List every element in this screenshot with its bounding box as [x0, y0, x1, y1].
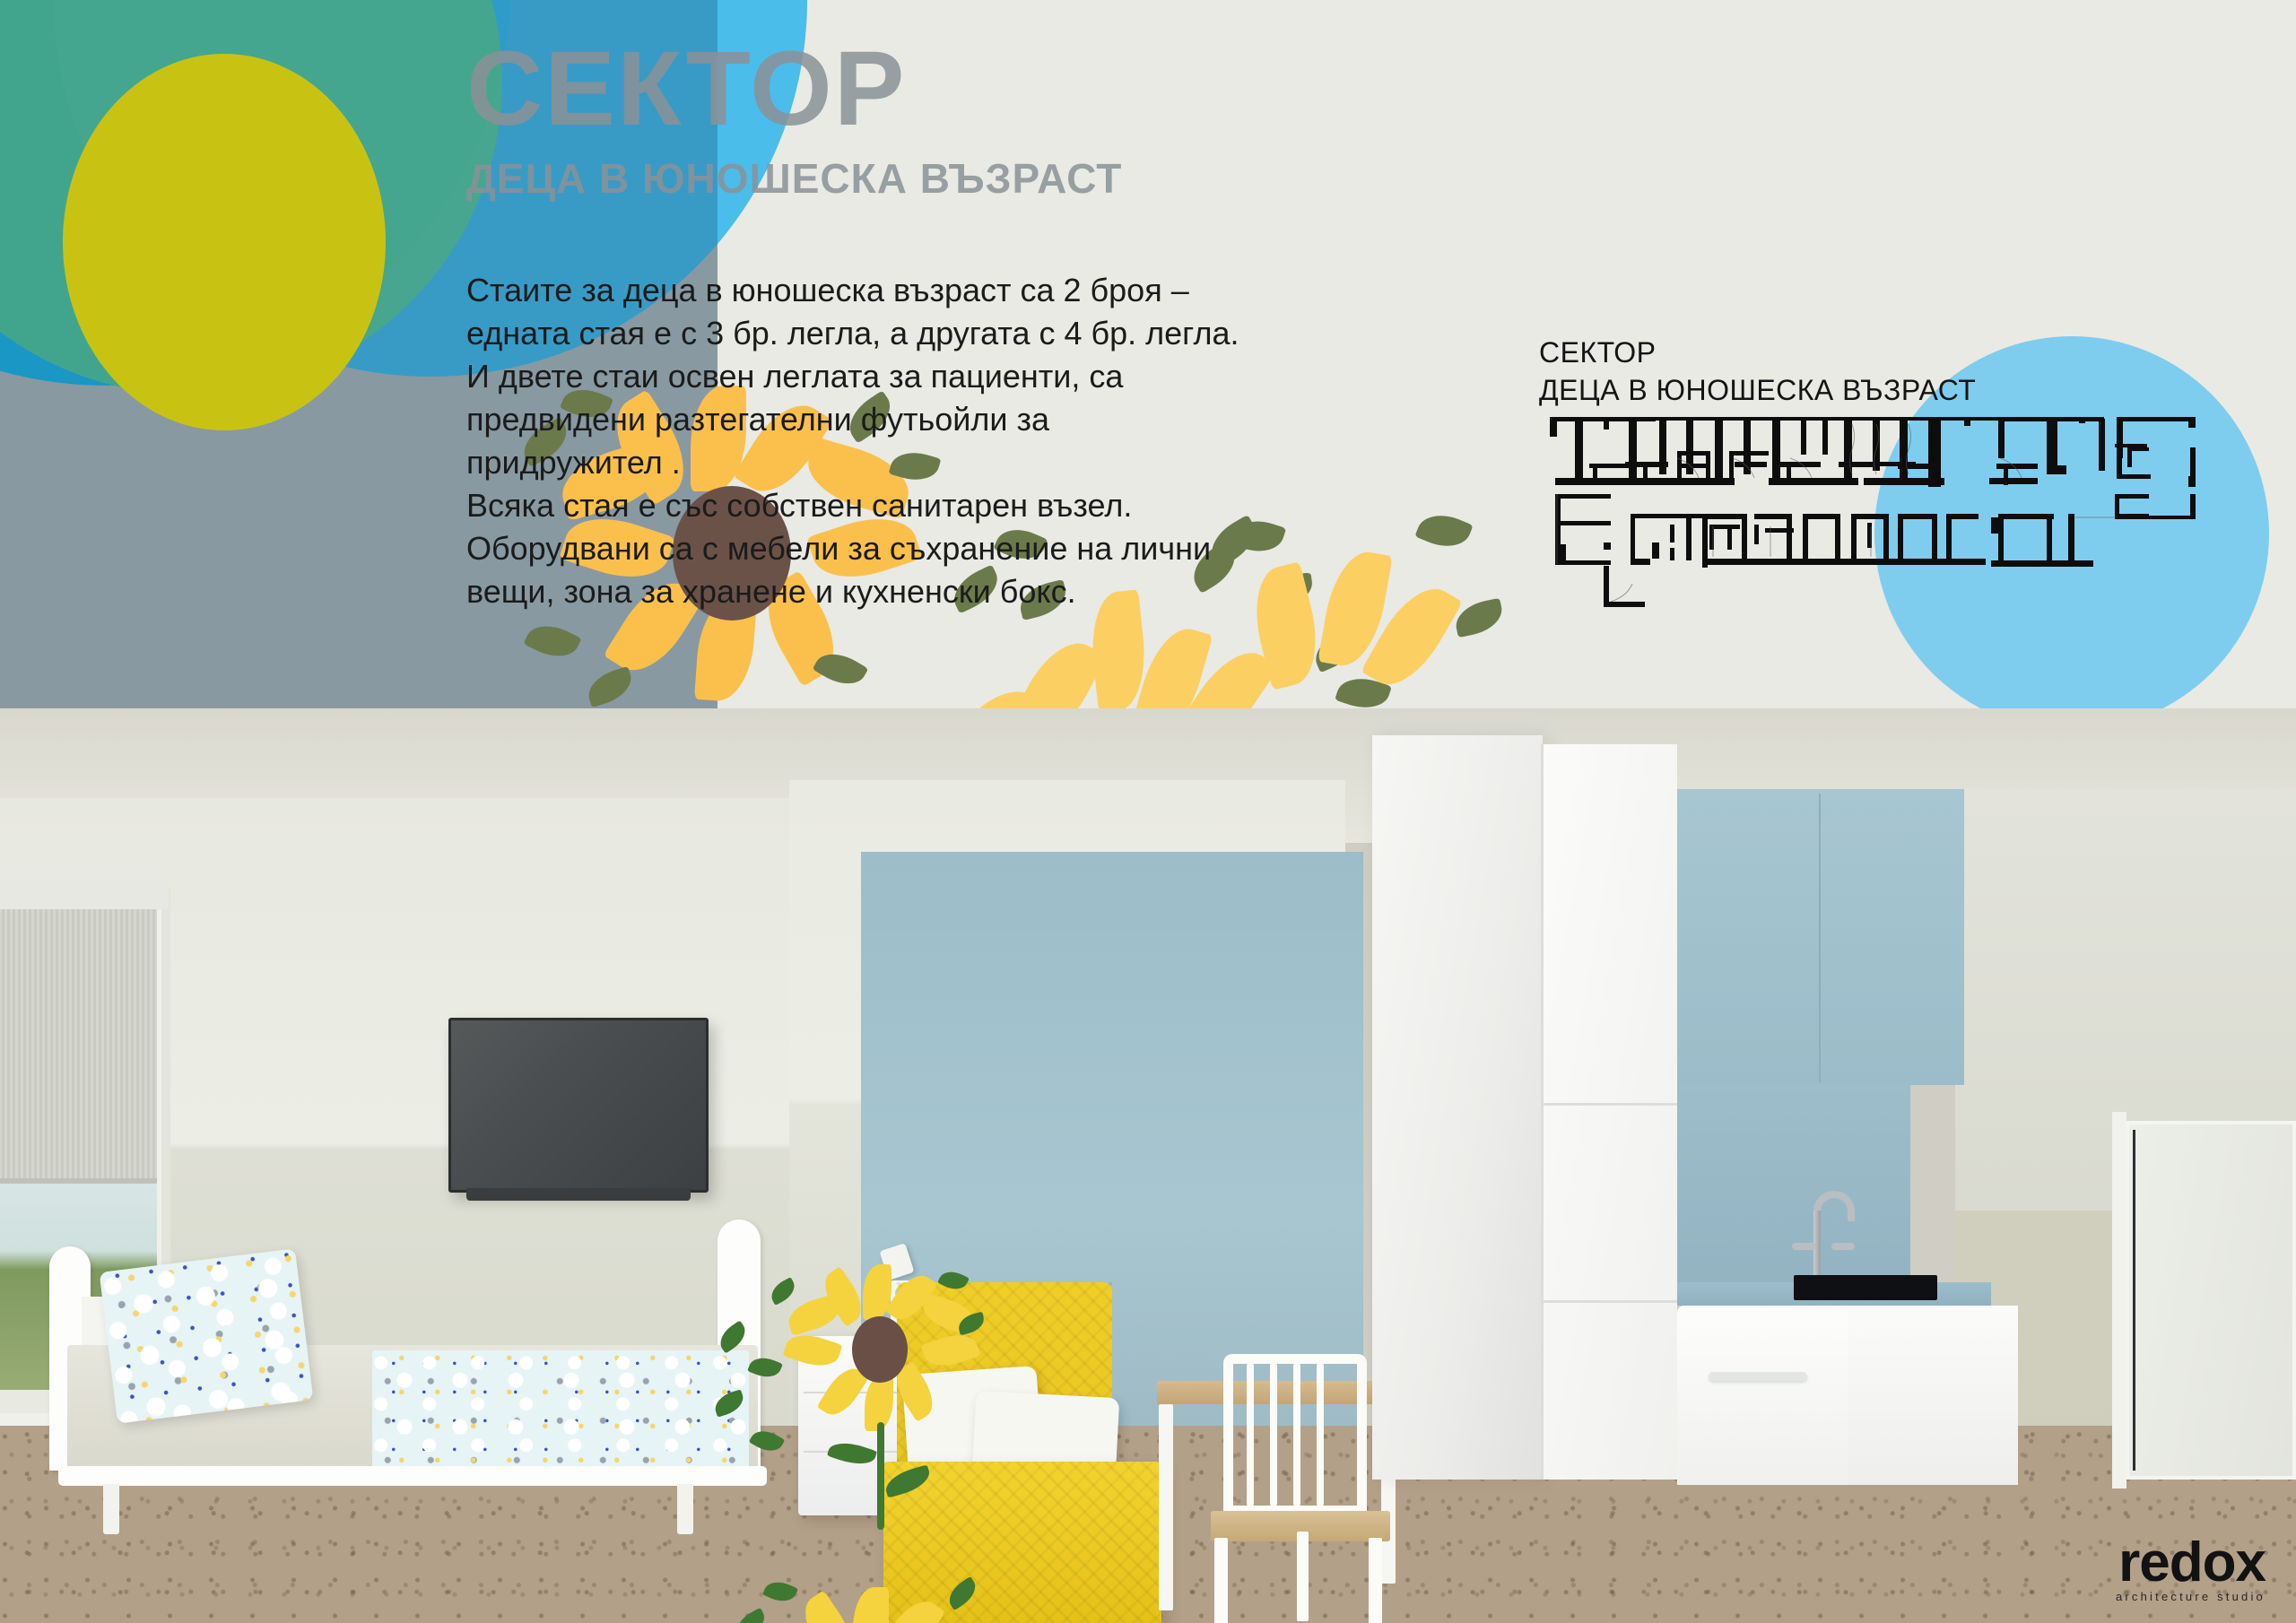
presentation-board: СЕКТОР ДЕЦА В ЮНОШЕСКА ВЪЗРАСТ Стаите за…	[0, 0, 2296, 1623]
sink	[1794, 1275, 1937, 1300]
desk-leg	[1159, 1404, 1173, 1610]
header-panel: СЕКТОР ДЕЦА В ЮНОШЕСКА ВЪЗРАСТ Стаите за…	[0, 0, 2296, 708]
floor-plan[interactable]	[1543, 408, 2251, 659]
bed-leg	[103, 1484, 119, 1534]
chair-slat	[1293, 1363, 1300, 1506]
floor-plan-drawing	[1543, 408, 2251, 659]
chair-leg	[1297, 1532, 1309, 1621]
backsplash	[1677, 1085, 1910, 1291]
bed-cover	[372, 1350, 749, 1471]
title-block: СЕКТОР ДЕЦА В ЮНОШЕСКА ВЪЗРАСТ	[466, 36, 1122, 203]
logo-tagline: architecture studio	[2116, 1590, 2266, 1603]
chair-leg	[1369, 1538, 1382, 1623]
cabinet-seam	[1819, 794, 1821, 1082]
page-title: СЕКТОР	[466, 36, 1122, 142]
description-text: Стаите за деца в юношеска възраст са 2 б…	[466, 269, 1239, 613]
bed-pillow	[99, 1248, 313, 1424]
mural-sunflower-upper	[789, 1264, 969, 1435]
wardrobe-seam	[1543, 1103, 1679, 1106]
wardrobe-seam	[1543, 1300, 1679, 1303]
fridge[interactable]	[1677, 1306, 1848, 1485]
chair-slat	[1270, 1363, 1277, 1506]
faucet-handle[interactable]	[1792, 1243, 1815, 1250]
wall-tv[interactable]	[448, 1018, 709, 1193]
mural-foliage	[709, 1327, 807, 1560]
bed-rail	[58, 1466, 767, 1486]
tv-soundbar	[466, 1188, 691, 1201]
fridge-handle[interactable]	[1709, 1372, 1807, 1381]
chair-leg	[1214, 1538, 1228, 1623]
studio-logo: redox architecture studio	[2116, 1538, 2266, 1603]
room-photo: redox architecture studio	[0, 708, 2296, 1623]
chair[interactable]	[1211, 1354, 1399, 1623]
chair-slat	[1247, 1363, 1254, 1506]
logo-wordmark: redox	[2116, 1538, 2266, 1588]
wardrobe-tall-left[interactable]	[1372, 735, 1543, 1480]
chair-slat	[1317, 1363, 1324, 1506]
bed-leg	[677, 1484, 693, 1534]
mural-sunflower-main	[758, 1587, 991, 1623]
door-jamb	[2112, 1112, 2126, 1488]
bathroom-door[interactable]	[2126, 1121, 2296, 1480]
wardrobe-seam	[1541, 744, 1544, 1480]
wardrobe-tall-right[interactable]	[1543, 744, 1677, 1480]
plan-label-line1: СЕКТОР	[1539, 334, 1976, 371]
upper-cabinets[interactable]	[1677, 789, 1964, 1085]
plan-label-line2: ДЕЦА В ЮНОШЕСКА ВЪЗРАСТ	[1539, 371, 1976, 409]
page-subtitle: ДЕЦА В ЮНОШЕСКА ВЪЗРАСТ	[466, 154, 1122, 203]
base-cabinet[interactable]	[1848, 1306, 2018, 1485]
faucet-handle[interactable]	[1831, 1243, 1855, 1250]
blind-roller[interactable]	[0, 879, 169, 909]
plan-label: СЕКТОР ДЕЦА В ЮНОШЕСКА ВЪЗРАСТ	[1539, 334, 1976, 409]
door-gap	[2133, 1130, 2135, 1471]
roller-blind[interactable]	[0, 888, 157, 1184]
